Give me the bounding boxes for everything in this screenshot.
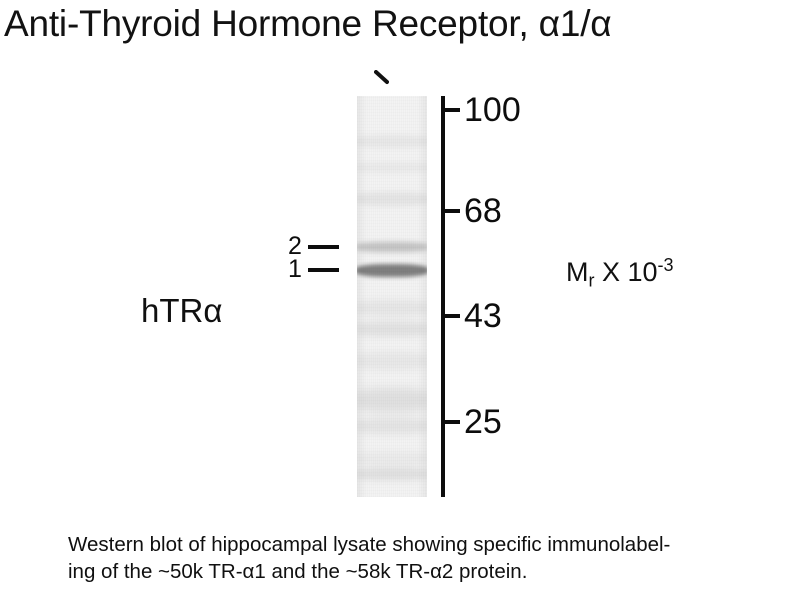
lane-top-tick-icon xyxy=(374,70,389,85)
blot-lane xyxy=(357,96,427,497)
background-band xyxy=(357,352,427,370)
protein-label-htr-alpha: hTRα xyxy=(141,293,222,329)
axis-tick-68 xyxy=(441,209,460,213)
axis-label-25: 25 xyxy=(464,405,502,439)
western-blot-figure: 100 68 43 25 hTRα 2 1 Mr X 10-3 xyxy=(0,60,800,520)
mr-prefix: M xyxy=(566,257,589,287)
background-band xyxy=(357,468,427,480)
axis-tick-100 xyxy=(441,108,460,112)
background-band xyxy=(357,322,427,336)
isoform-label-1: 1 xyxy=(288,257,302,282)
axis-tick-43 xyxy=(441,314,460,318)
band-tr-alpha1 xyxy=(357,264,427,277)
isoform-dash-1 xyxy=(308,268,339,272)
figure-caption: Western blot of hippocampal lysate showi… xyxy=(68,531,788,585)
axis-label-43: 43 xyxy=(464,299,502,333)
background-band xyxy=(357,452,427,466)
background-band xyxy=(357,135,427,148)
axis-label-100: 100 xyxy=(464,93,521,127)
background-band xyxy=(357,300,427,316)
background-band xyxy=(357,388,427,412)
molecular-weight-axis-line xyxy=(441,96,445,497)
axis-label-68: 68 xyxy=(464,194,502,228)
background-band xyxy=(357,162,427,173)
caption-line-1: Western blot of hippocampal lysate showi… xyxy=(68,531,788,558)
mr-axis-label: Mr X 10-3 xyxy=(566,250,674,296)
isoform-dash-2 xyxy=(308,245,339,249)
axis-tick-25 xyxy=(441,420,460,424)
mr-middle: X 10 xyxy=(595,257,658,287)
background-band xyxy=(357,192,427,206)
mr-superscript: -3 xyxy=(658,255,674,275)
background-band xyxy=(357,418,427,434)
band-tr-alpha2 xyxy=(357,242,427,252)
caption-line-2: ing of the ~50k TR-α1 and the ~58k TR-α2… xyxy=(68,558,788,585)
figure-title: Anti-Thyroid Hormone Receptor, α1/α xyxy=(4,2,800,46)
lane-texture xyxy=(357,96,427,497)
